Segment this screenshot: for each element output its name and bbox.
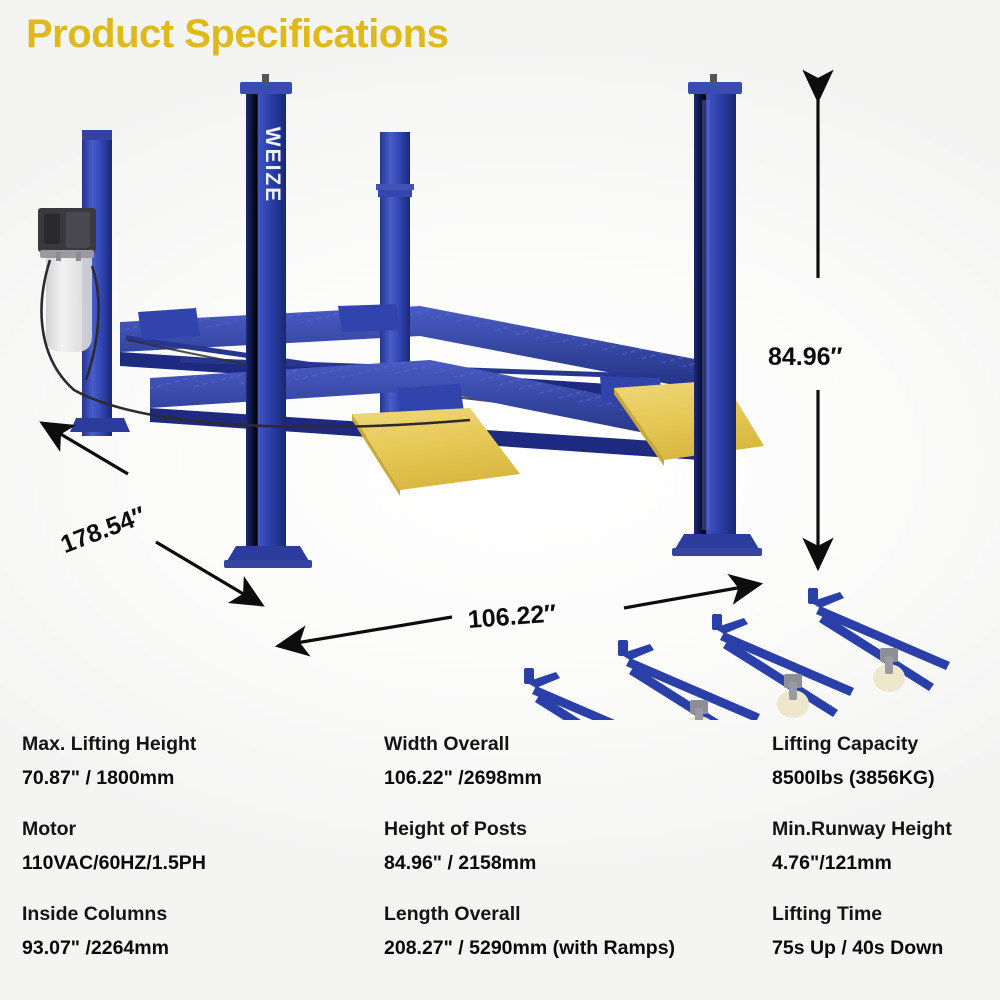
spec-label: Motor [22,820,372,840]
spec-label: Inside Columns [22,905,372,925]
product-spec-page: Product Specifications [0,0,1000,1000]
spec-value: 70.87" / 1800mm [22,769,372,789]
product-illustration: WEIZE [0,60,1000,720]
caster-kit-4 [808,588,950,692]
spec-item: Max. Lifting Height 70.87" / 1800mm [0,735,372,820]
post-front-right [672,74,762,556]
spec-label: Lifting Time [772,905,1000,925]
spec-label: Width Overall [384,735,762,755]
spec-value: 4.76"/121mm [772,854,1000,874]
spec-value: 75s Up / 40s Down [772,939,1000,959]
ramp-front [352,408,520,496]
brand-label: WEIZE [261,127,284,204]
spec-item: Lifting Time 75s Up / 40s Down [762,905,1000,990]
spec-label: Lifting Capacity [772,735,1000,755]
spec-label: Min.Runway Height [772,820,1000,840]
spec-item: Min.Runway Height 4.76"/121mm [762,820,1000,905]
spec-label: Max. Lifting Height [22,735,372,755]
spec-item: Height of Posts 84.96" / 2158mm [372,820,762,905]
spec-label: Height of Posts [384,820,762,840]
spec-value: 208.27" / 5290mm (with Ramps) [384,939,762,959]
power-unit [38,208,96,352]
spec-item: Length Overall 208.27" / 5290mm (with Ra… [372,905,762,990]
spec-item: Motor 110VAC/60HZ/1.5PH [0,820,372,905]
spec-value: 93.07" /2264mm [22,939,372,959]
spec-value: 8500lbs (3856KG) [772,769,1000,789]
dimension-line-depth [42,423,262,605]
spec-label: Length Overall [384,905,762,925]
spec-item: Width Overall 106.22" /2698mm [372,735,762,820]
specifications-table: Max. Lifting Height 70.87" / 1800mm Widt… [0,735,1000,990]
spec-item: Inside Columns 93.07" /2264mm [0,905,372,990]
dimension-label-height: 84.96″ [768,343,843,372]
spec-value: 110VAC/60HZ/1.5PH [22,854,372,874]
spec-value: 84.96" / 2158mm [384,854,762,874]
spec-value: 106.22" /2698mm [384,769,762,789]
page-title: Product Specifications [26,12,448,57]
spec-item: Lifting Capacity 8500lbs (3856KG) [762,735,1000,820]
